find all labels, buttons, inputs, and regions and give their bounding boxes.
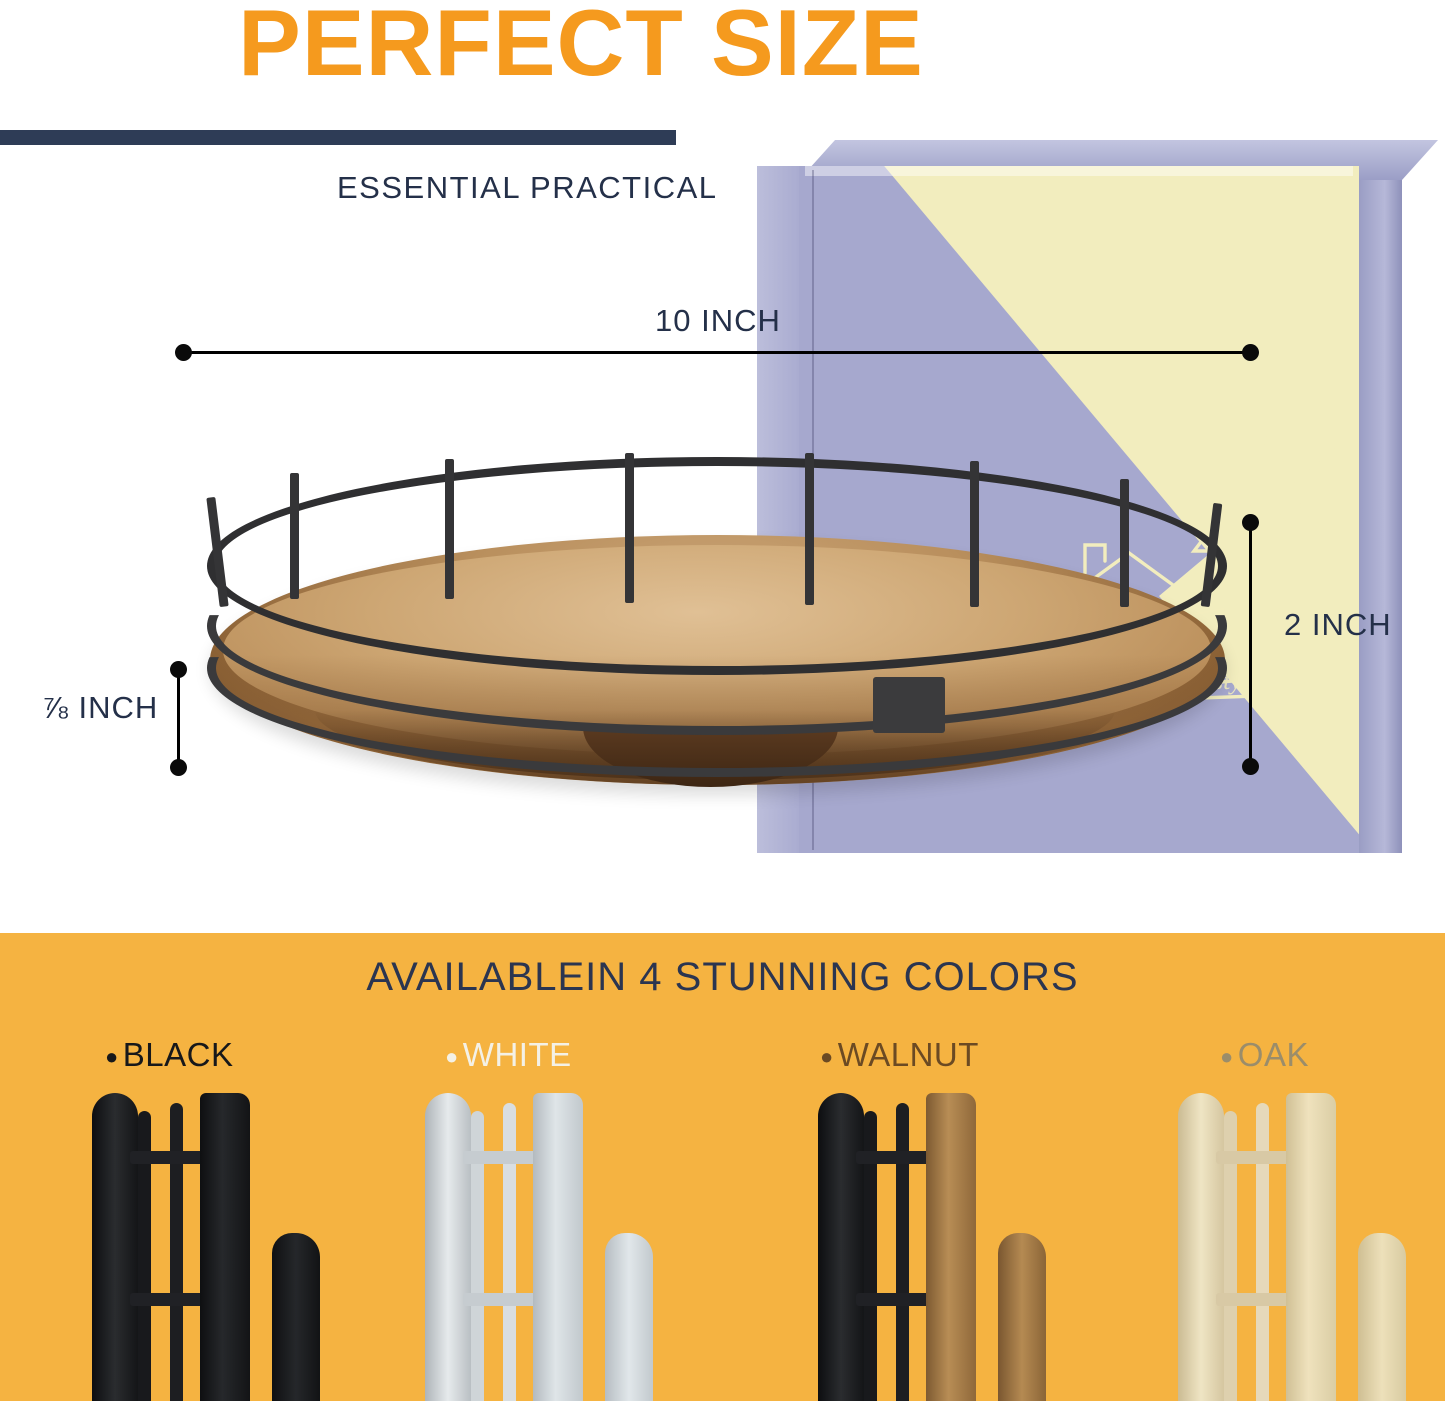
width-dimension-line <box>182 351 1250 354</box>
thickness-dimension-line <box>177 668 180 767</box>
variant-sample-black[interactable] <box>92 1093 392 1401</box>
width-dimension-label: 10 INCH <box>655 303 781 339</box>
bullet-icon: ● <box>105 1044 119 1069</box>
box-top-highlight <box>805 166 1353 176</box>
bullet-icon: ● <box>820 1044 834 1069</box>
variant-disc-edge-second <box>998 1233 1046 1401</box>
swatch-label-text: BLACK <box>123 1036 234 1073</box>
bullet-icon: ● <box>1220 1044 1234 1069</box>
variant-disc-edge <box>1286 1093 1336 1401</box>
thickness-endpoint-bottom <box>170 759 187 776</box>
variant-disc-edge <box>200 1093 250 1401</box>
variant-disc-edge <box>926 1093 976 1401</box>
width-endpoint-left <box>175 344 192 361</box>
variant-sample-walnut[interactable] <box>818 1093 1118 1401</box>
height-dimension-label: 2 INCH <box>1284 607 1392 643</box>
variant-rail-post <box>1256 1103 1269 1401</box>
variant-sample-white[interactable] <box>425 1093 725 1401</box>
swatch-label-white: ●WHITE <box>445 1036 572 1074</box>
swatch-label-text: WHITE <box>463 1036 572 1073</box>
swatch-label-oak: ●OAK <box>1220 1036 1309 1074</box>
rail-post <box>1120 479 1129 607</box>
lazy-susan-product-image <box>195 455 1240 800</box>
swatch-label-black: ●BLACK <box>105 1036 234 1074</box>
rail-post <box>445 459 454 599</box>
thickness-fraction: ⅞ <box>42 690 69 725</box>
available-colors-panel: AVAILABLEIN 4 STUNNING COLORS ●BLACK ●WH… <box>0 933 1445 1401</box>
thickness-dimension-label: ⅞ INCH <box>42 690 158 726</box>
height-dimension-line <box>1249 521 1252 766</box>
title-divider-rule <box>0 130 676 145</box>
variant-disc-edge-second <box>1358 1233 1406 1401</box>
rail-post <box>625 453 634 603</box>
width-endpoint-right <box>1242 344 1259 361</box>
swatch-label-text: WALNUT <box>838 1036 979 1073</box>
height-endpoint-top <box>1242 514 1259 531</box>
variant-rail-post <box>503 1103 516 1401</box>
rail-clip-block <box>873 677 945 733</box>
thickness-endpoint-top <box>170 661 187 678</box>
variant-rail-arc <box>425 1093 471 1401</box>
variant-disc-edge-second <box>605 1233 653 1401</box>
bullet-icon: ● <box>445 1044 459 1069</box>
variant-rail-post <box>170 1103 183 1401</box>
variant-rail-arc <box>92 1093 138 1401</box>
box-right-face <box>1359 166 1402 853</box>
variant-sample-oak[interactable] <box>1178 1093 1445 1401</box>
colors-heading: AVAILABLEIN 4 STUNNING COLORS <box>0 955 1445 1000</box>
height-endpoint-bottom <box>1242 758 1259 775</box>
rail-post <box>290 473 299 599</box>
size-info-panel: PERFECT SIZE ESSENTIAL PRACTICAL <box>0 0 1445 933</box>
page-title: PERFECT SIZE <box>0 0 1162 93</box>
thickness-unit: INCH <box>69 690 158 725</box>
rail-post <box>805 453 814 605</box>
swatch-label-walnut: ●WALNUT <box>820 1036 979 1074</box>
variant-disc-edge-second <box>272 1233 320 1401</box>
swatch-label-text: OAK <box>1238 1036 1309 1073</box>
variant-rail-arc <box>818 1093 864 1401</box>
variant-disc-edge <box>533 1093 583 1401</box>
page-subtitle: ESSENTIAL PRACTICAL <box>337 170 718 206</box>
variant-rail-post <box>896 1103 909 1401</box>
rail-post <box>970 461 979 607</box>
variant-rail-arc <box>1178 1093 1224 1401</box>
